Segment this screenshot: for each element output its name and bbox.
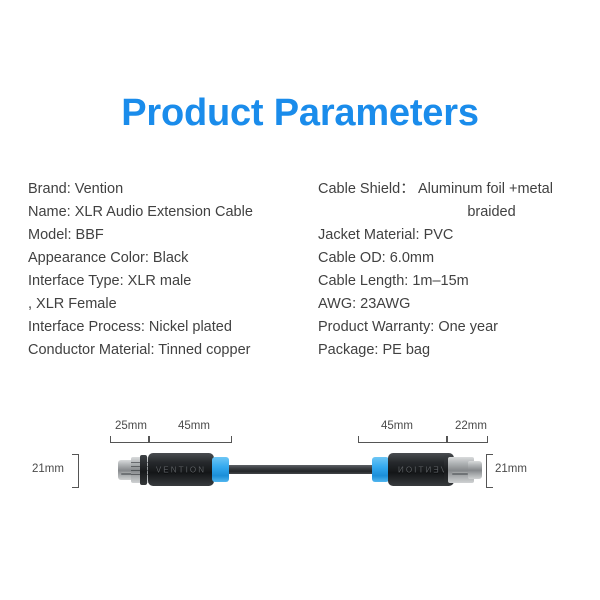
dimension-label-left-connector-end: 25mm [115, 420, 147, 432]
spec-line-brand: Brand: Vention [28, 178, 313, 201]
spec-line-cable-shield: Cable Shield： Aluminum foil +metal [318, 178, 593, 201]
page-title: Product Parameters [0, 92, 600, 135]
product-diagram: 25mm 45mm 45mm 22mm 21mm 21mm VENTION VE… [0, 420, 600, 530]
spec-line-package: Package: PE bag [318, 339, 593, 362]
xlr-male-barrel-tip [468, 461, 482, 479]
brand-emboss-left: VENTION [156, 465, 206, 474]
cable-jacket [226, 465, 378, 474]
brand-emboss-right: VENTION [396, 465, 446, 474]
spec-line-cable-length: Cable Length: 1m–15m [318, 270, 593, 293]
dimension-label-left-height: 21mm [32, 463, 64, 475]
strain-relief-ring-left [212, 457, 229, 482]
spec-column-left: Brand: Vention Name: XLR Audio Extension… [28, 178, 313, 362]
dimension-line-right-connector-end [446, 436, 488, 443]
spec-line-product-warranty: Product Warranty: One year [318, 316, 593, 339]
spec-line-interface-type-cont: , XLR Female [28, 293, 313, 316]
spec-line-jacket-material: Jacket Material: PVC [318, 224, 593, 247]
dimension-label-right-connector-end: 22mm [455, 420, 487, 432]
spec-line-model: Model: BBF [28, 224, 313, 247]
dimension-label-right-connector-body: 45mm [381, 420, 413, 432]
dimension-line-right-connector-body [358, 436, 448, 443]
xlr-female-housing: VENTION [148, 453, 214, 486]
spec-line-interface-type: Interface Type: XLR male [28, 270, 313, 293]
dimension-line-left-connector-end [110, 436, 150, 443]
spec-line-conductor-material: Conductor Material: Tinned copper [28, 339, 313, 362]
dimension-label-left-connector-body: 45mm [178, 420, 210, 432]
spec-line-interface-process: Interface Process: Nickel plated [28, 316, 313, 339]
spec-line-cable-shield-cont: braided [318, 201, 593, 224]
spec-column-right: Cable Shield： Aluminum foil +metal braid… [318, 178, 593, 362]
strain-relief-ring-right [372, 457, 389, 482]
dimension-label-right-height: 21mm [495, 463, 527, 475]
spec-line-appearance-color: Appearance Color: Black [28, 247, 313, 270]
spec-line-name: Name: XLR Audio Extension Cable [28, 201, 313, 224]
dimension-line-left-height [72, 454, 79, 488]
dimension-line-left-connector-body [148, 436, 232, 443]
spec-line-awg: AWG: 23AWG [318, 293, 593, 316]
xlr-female-collar [140, 455, 147, 485]
spec-line-cable-od: Cable OD: 6.0mm [318, 247, 593, 270]
xlr-male-pin [452, 472, 468, 475]
dimension-line-right-height [486, 454, 493, 488]
specifications-block: Brand: Vention Name: XLR Audio Extension… [0, 178, 600, 358]
